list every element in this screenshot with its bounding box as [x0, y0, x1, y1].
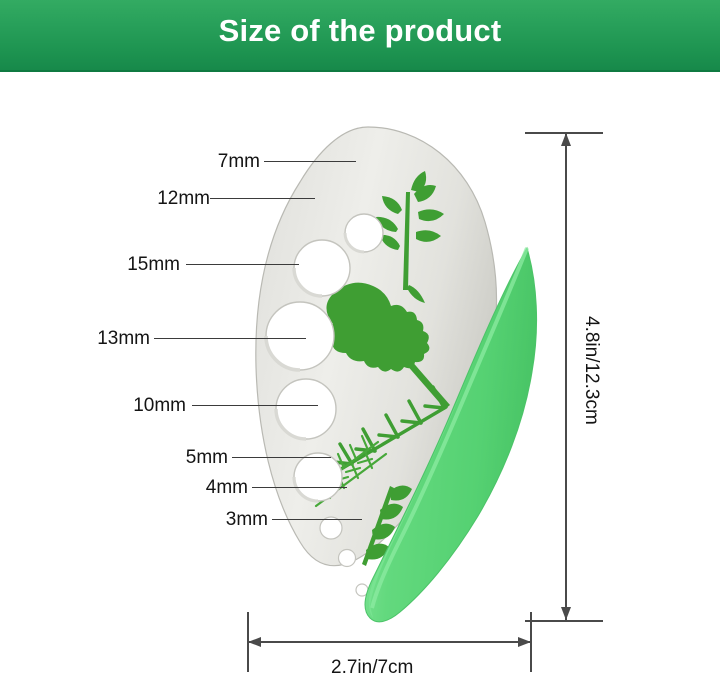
page-title: Size of the product: [0, 13, 720, 49]
callout-label-4mm: 4mm: [196, 477, 248, 499]
leader-line-13mm: [154, 338, 306, 339]
dim-arrow-right: [518, 637, 531, 647]
leader-line-15mm: [186, 264, 299, 265]
dim-arrow-down: [561, 607, 571, 620]
callout-label-15mm: 15mm: [118, 254, 180, 276]
product-illustration: [0, 72, 720, 685]
callout-label-13mm: 13mm: [88, 328, 150, 350]
dim-arrow-left: [248, 637, 261, 647]
leader-line-10mm: [192, 405, 318, 406]
dim-line-height: [565, 132, 567, 620]
dim-width-label: 2.7in/7cm: [331, 657, 413, 679]
leader-line-12mm: [210, 198, 315, 199]
dim-height-label: 4.8in/12.3cm: [580, 316, 602, 425]
leader-line-3mm: [272, 519, 362, 520]
product-stage: 7mm 12mm 15mm 13mm 10mm 5mm 4mm 3mm 4.8i…: [0, 72, 720, 685]
leader-line-5mm: [232, 457, 331, 458]
callout-label-7mm: 7mm: [198, 151, 260, 173]
leader-line-7mm: [264, 161, 356, 162]
callout-label-12mm: 12mm: [148, 188, 210, 210]
callout-label-3mm: 3mm: [216, 509, 268, 531]
product-size-infographic: Size of the product: [0, 0, 720, 685]
dim-line-width: [248, 641, 530, 643]
leader-line-4mm: [252, 487, 347, 488]
header-banner: Size of the product: [0, 0, 720, 72]
dim-ext-line-bottom: [525, 620, 603, 622]
callout-label-5mm: 5mm: [176, 447, 228, 469]
dim-arrow-up: [561, 133, 571, 146]
callout-label-10mm: 10mm: [124, 395, 186, 417]
